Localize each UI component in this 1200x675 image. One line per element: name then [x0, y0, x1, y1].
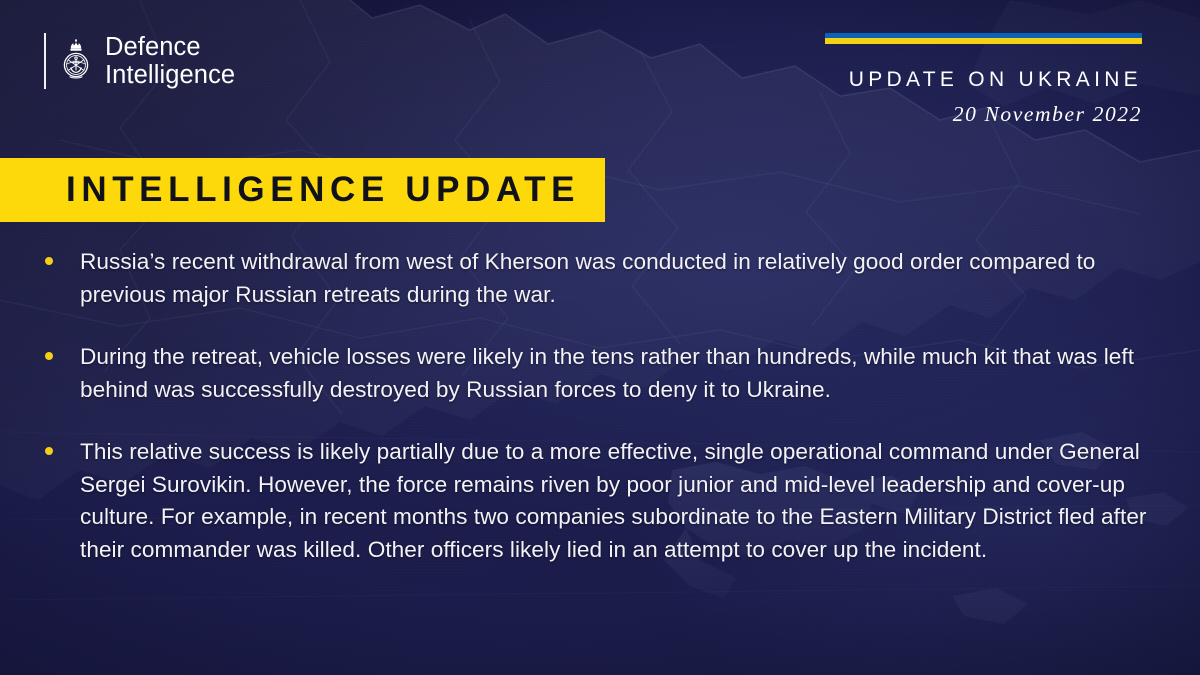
flag-stripe-yellow: [825, 38, 1142, 44]
list-item: During the retreat, vehicle losses were …: [0, 341, 1170, 406]
list-item: This relative success is likely partiall…: [0, 436, 1170, 566]
update-title: UPDATE ON UKRAINE: [825, 68, 1142, 92]
update-header-block: UPDATE ON UKRAINE 20 November 2022: [825, 33, 1142, 127]
list-item: Russia’s recent withdrawal from west of …: [0, 246, 1170, 311]
bullet-dot-icon: [45, 257, 53, 265]
defence-intelligence-crest-icon: [59, 39, 93, 83]
bullet-list: Russia’s recent withdrawal from west of …: [0, 246, 1200, 566]
brand-divider-rule: [44, 33, 46, 89]
brand-wordmark: Defence Intelligence: [105, 33, 235, 89]
bullet-dot-icon: [45, 447, 53, 455]
update-date: 20 November 2022: [825, 102, 1142, 127]
ukraine-flag-bar-icon: [825, 33, 1142, 44]
brand-line-defence: Defence: [105, 33, 235, 61]
bullet-text: Russia’s recent withdrawal from west of …: [80, 246, 1165, 311]
header: Defence Intelligence UPDATE ON UKRAINE 2…: [0, 0, 1200, 150]
bullet-dot-icon: [45, 352, 53, 360]
bullet-text: During the retreat, vehicle losses were …: [80, 341, 1165, 406]
brand-line-intelligence: Intelligence: [105, 61, 235, 89]
intelligence-update-banner: INTELLIGENCE UPDATE: [0, 158, 605, 222]
defence-intelligence-logo: Defence Intelligence: [44, 33, 235, 89]
bullet-text: This relative success is likely partiall…: [80, 436, 1165, 566]
banner-title: INTELLIGENCE UPDATE: [0, 170, 580, 210]
